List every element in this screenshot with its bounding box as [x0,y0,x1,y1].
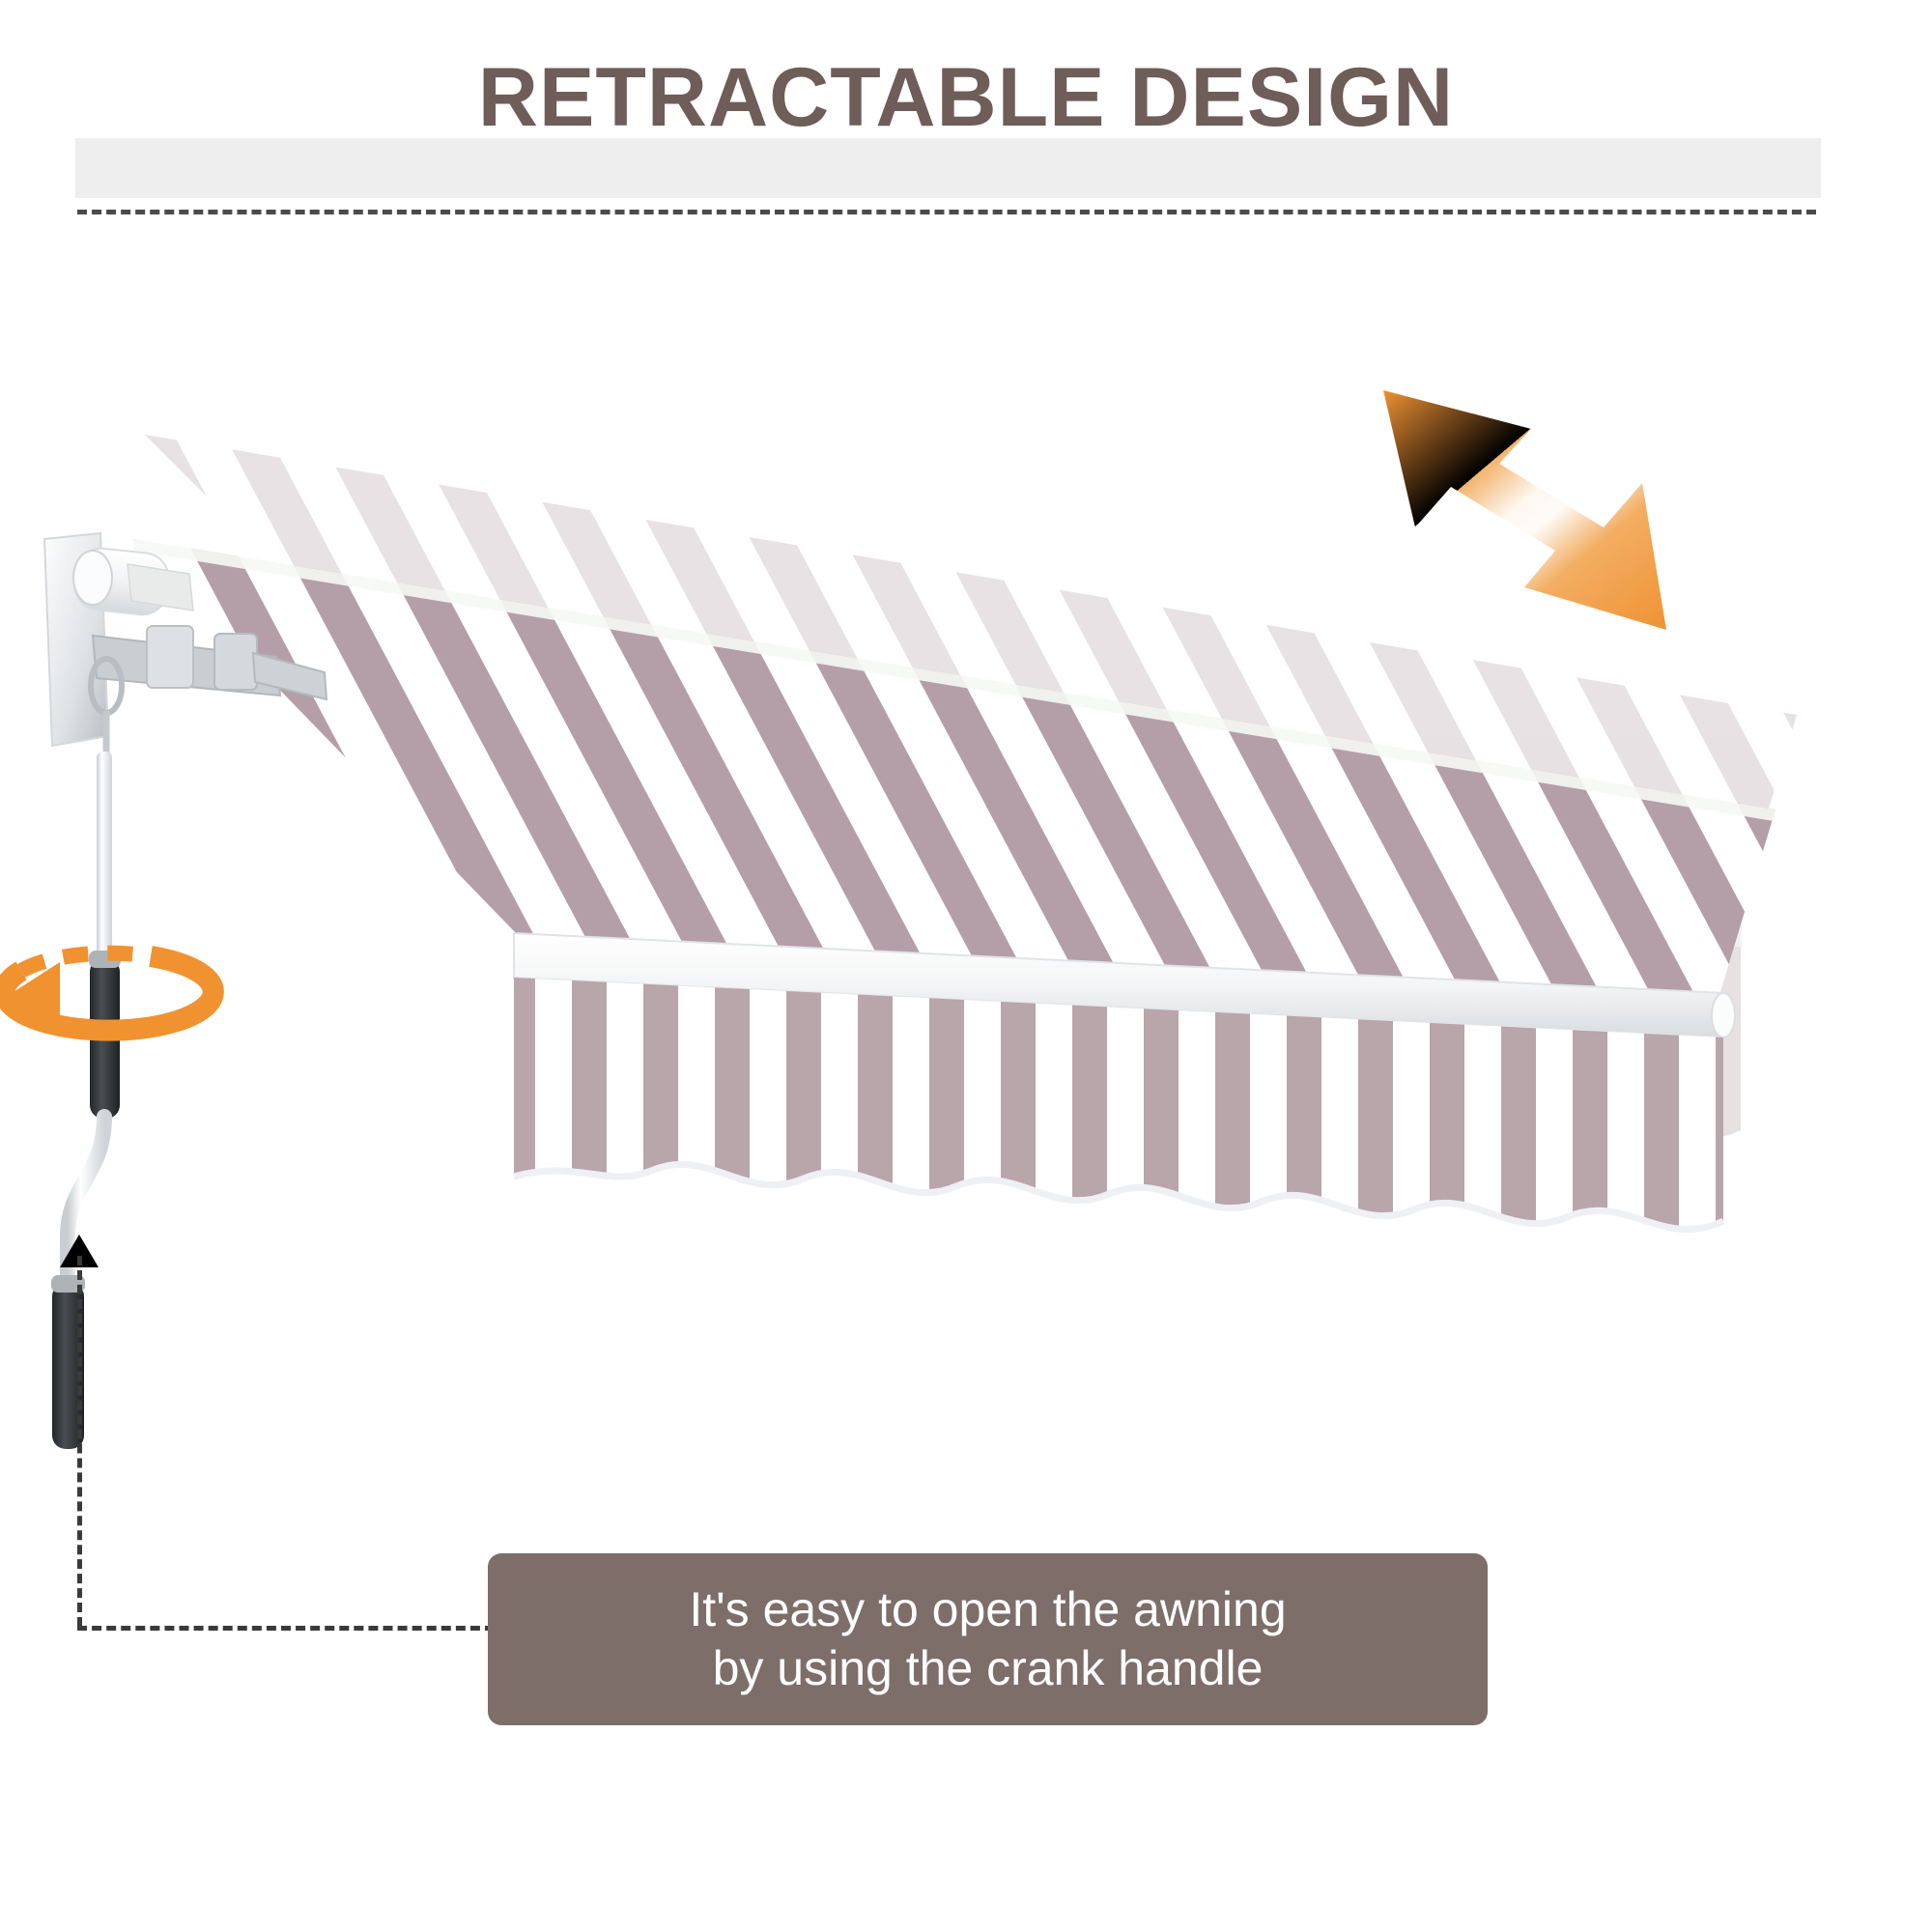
header-divider [77,210,1816,214]
arm-pivot-block [214,634,257,690]
roller-tube-end-cap [73,551,112,605]
infographic-canvas: RETRACTABLE DESIGN [0,0,1932,1932]
arm-elbow-block [147,626,193,688]
awning-product-graphic [0,367,1932,1468]
caption-line-1: It's easy to open the awning [689,1580,1286,1639]
double-arrow-shape [1383,390,1666,630]
double-arrow-diagonal-icon [1383,390,1666,630]
page-title: RETRACTABLE DESIGN [0,56,1932,139]
crank-handle-assembly [51,752,121,1449]
rotation-arc-dashed [21,953,151,971]
awning-illustration [0,367,1932,1468]
caption-line-2: by using the crank handle [713,1639,1264,1698]
header-background-band [75,138,1821,198]
front-bar-end-cap [1712,993,1735,1037]
caption-box: It's easy to open the awning by using th… [488,1553,1488,1725]
callout-leader-horizontal [77,1626,495,1631]
callout-leader-vertical [77,1256,82,1627]
